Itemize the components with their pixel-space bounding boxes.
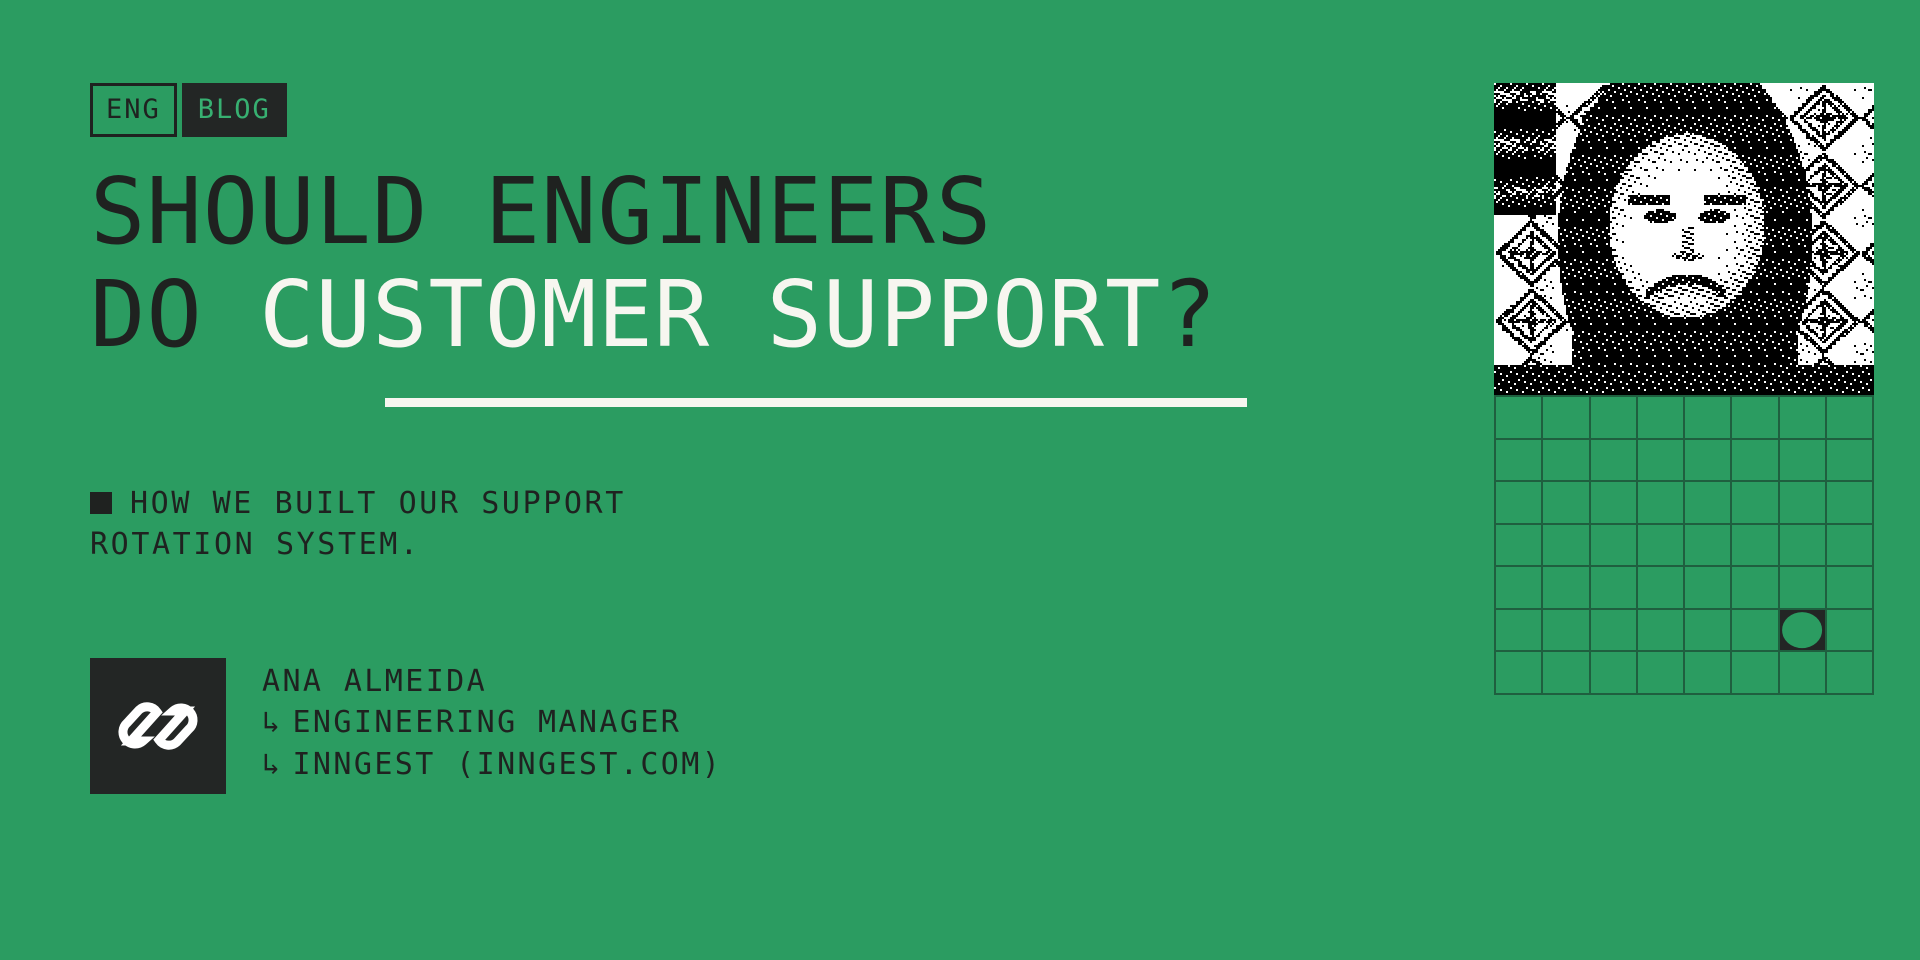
author-role: ↳ENGINEERING MANAGER [262, 702, 722, 743]
grid-cell [1780, 567, 1827, 610]
author-company[interactable]: ↳INNGEST (INNGEST.COM) [262, 744, 722, 785]
grid-cell [1780, 440, 1827, 483]
grid-cell [1591, 525, 1638, 568]
grid-cell [1543, 440, 1590, 483]
decorative-grid [1494, 395, 1874, 695]
grid-cell [1591, 482, 1638, 525]
grid-cell [1638, 610, 1685, 653]
grid-cell [1685, 397, 1732, 440]
badge-blog[interactable]: BLOG [182, 83, 287, 137]
subtitle-line-1: HOW WE BUILT OUR SUPPORT [130, 486, 626, 521]
square-bullet-icon [90, 492, 112, 514]
grid-cell [1780, 482, 1827, 525]
grid-cell [1543, 525, 1590, 568]
grid-cell [1543, 610, 1590, 653]
author-name: ANA ALMEIDA [262, 661, 722, 702]
grid-cell [1685, 482, 1732, 525]
grid-cell [1496, 525, 1543, 568]
grid-cell [1827, 440, 1874, 483]
grid-cell [1780, 397, 1827, 440]
grid-cell [1827, 567, 1874, 610]
grid-cell [1543, 567, 1590, 610]
grid-cell [1732, 567, 1779, 610]
badge-row: ENG BLOG [90, 83, 287, 137]
grid-cell [1732, 397, 1779, 440]
grid-cell [1543, 652, 1590, 695]
grid-cell [1685, 567, 1732, 610]
grid-cell [1732, 440, 1779, 483]
grid-cell [1827, 482, 1874, 525]
grid-cell [1496, 610, 1543, 653]
hero-right-column [1494, 83, 1874, 695]
headline-accent: CUSTOMER SUPPORT [259, 261, 1161, 368]
grid-cell [1827, 525, 1874, 568]
inngest-infinity-logo-icon [117, 696, 199, 756]
grid-cell [1496, 440, 1543, 483]
grid-cell [1543, 397, 1590, 440]
grid-cell [1827, 397, 1874, 440]
grid-cell [1591, 440, 1638, 483]
grid-cell [1685, 610, 1732, 653]
grid-cell [1685, 525, 1732, 568]
grid-cell [1732, 482, 1779, 525]
author-block: ANA ALMEIDA ↳ENGINEERING MANAGER ↳INNGES… [90, 658, 722, 794]
grid-cell [1685, 440, 1732, 483]
grid-cell [1591, 610, 1638, 653]
grid-cell [1496, 652, 1543, 695]
grid-cell [1827, 610, 1874, 653]
grid-cell [1780, 525, 1827, 568]
grid-cell [1591, 652, 1638, 695]
grid-cell [1591, 567, 1638, 610]
grid-cell [1496, 567, 1543, 610]
grid-cell [1685, 652, 1732, 695]
grid-cell [1543, 482, 1590, 525]
grid-cell [1591, 397, 1638, 440]
author-company-label: INNGEST (INNGEST.COM) [292, 747, 722, 782]
grid-cell [1638, 440, 1685, 483]
author-logo-tile[interactable] [90, 658, 226, 794]
grid-cell [1638, 652, 1685, 695]
grid-cell [1638, 525, 1685, 568]
grid-cell [1638, 397, 1685, 440]
headline-line-2-prefix: DO [90, 261, 259, 368]
grid-cell-marker [1780, 610, 1827, 653]
page-subtitle: HOW WE BUILT OUR SUPPORT ROTATION SYSTEM… [90, 483, 626, 566]
hero-left-column: ENG BLOG SHOULD ENGINEERS DO CUSTOMER SU… [90, 0, 1470, 960]
headline-underline [385, 398, 1247, 407]
grid-cell [1732, 525, 1779, 568]
grid-cell [1496, 397, 1543, 440]
arrow-icon: ↳ [262, 744, 282, 785]
author-portrait [1494, 83, 1874, 395]
grid-cell [1638, 567, 1685, 610]
badge-eng[interactable]: ENG [90, 83, 177, 137]
grid-cell [1732, 652, 1779, 695]
grid-cell [1827, 652, 1874, 695]
portrait-dither-canvas [1494, 83, 1874, 395]
grid-cell [1732, 610, 1779, 653]
author-role-label: ENGINEERING MANAGER [292, 705, 681, 740]
grid-cell [1780, 652, 1827, 695]
headline-line-2: DO CUSTOMER SUPPORT? [90, 263, 1218, 366]
headline-line-2-suffix: ? [1161, 261, 1217, 368]
headline-line-1: SHOULD ENGINEERS [90, 160, 1218, 263]
subtitle-line-2: ROTATION SYSTEM. [90, 524, 626, 565]
arrow-icon: ↳ [262, 702, 282, 743]
author-meta: ANA ALMEIDA ↳ENGINEERING MANAGER ↳INNGES… [262, 658, 722, 785]
grid-cell [1638, 482, 1685, 525]
grid-cell [1496, 482, 1543, 525]
page-title: SHOULD ENGINEERS DO CUSTOMER SUPPORT? [90, 160, 1218, 366]
